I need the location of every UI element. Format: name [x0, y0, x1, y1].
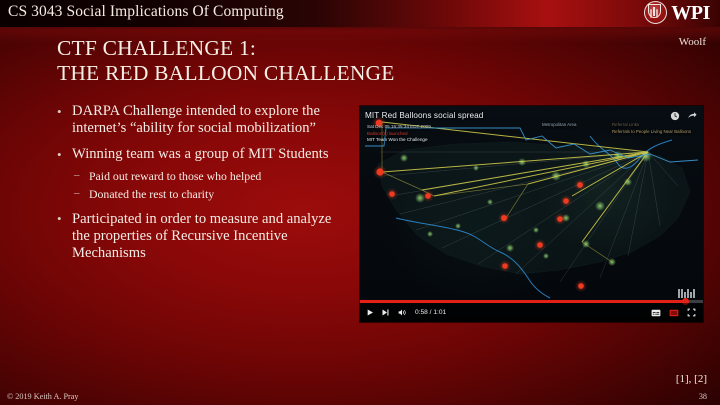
bullet-text: Donated the rest to charity [89, 187, 214, 201]
overlay-launch-label: Balloon(s) launched [367, 131, 408, 136]
title-line-1: CTF CHALLENGE 1: [57, 36, 577, 61]
bullet-text: Paid out reward to those who helped [89, 169, 261, 183]
presentation-slide: CS 3043 Social Implications Of Computing… [0, 0, 720, 405]
bullet-text: DARPA Challenge intended to explore the … [72, 103, 320, 136]
theater-mode-icon[interactable] [669, 309, 679, 317]
fullscreen-icon[interactable] [687, 308, 696, 317]
bullet-item: • DARPA Challenge intended to explore th… [55, 103, 350, 137]
bullet-marker: – [74, 185, 80, 201]
share-icon[interactable] [687, 111, 697, 121]
watch-later-icon[interactable] [670, 111, 680, 121]
sub-bullet-item: – Paid out reward to those who helped [55, 168, 350, 184]
header-bar: CS 3043 Social Implications Of Computing [0, 0, 720, 27]
course-title: CS 3043 Social Implications Of Computing [8, 3, 284, 21]
overlay-won-label: MIT Team Won the Challenge [367, 137, 428, 142]
volume-icon[interactable] [397, 308, 407, 317]
video-top-icons[interactable] [670, 111, 697, 121]
wpi-seal-icon [644, 1, 667, 24]
video-controls-left[interactable]: 0:58 / 1:01 [366, 308, 446, 317]
title-line-2: THE RED BALLOON CHALLENGE [57, 61, 577, 86]
bullet-marker: • [57, 210, 62, 227]
bullet-item: • Participated in order to measure and a… [55, 211, 350, 263]
page-number: 38 [699, 392, 707, 401]
bullet-marker: • [57, 103, 62, 120]
legend-referrals-near-balloons: Referrals to People Living Near Balloons [612, 129, 691, 134]
video-time-display: 0:58 / 1:01 [415, 309, 446, 316]
legend-referral-links: Referral Links [612, 122, 639, 127]
video-player[interactable]: MIT Red Balloons social spread Sat Dec 0… [360, 106, 703, 322]
bullet-text: Winning team was a group of MIT Students [72, 146, 329, 162]
bullet-list: • DARPA Challenge intended to explore th… [55, 103, 350, 271]
wpi-logo-text: WPI [671, 3, 710, 23]
legend-metropolitan-area: Metropolitan Area [542, 122, 576, 127]
sub-bullet-item: – Donated the rest to charity [55, 186, 350, 202]
subtitles-icon[interactable] [651, 309, 661, 317]
video-title: MIT Red Balloons social spread [365, 111, 483, 120]
sub-bullet-group: – Paid out reward to those who helped – … [55, 168, 350, 202]
author-name: Woolf [679, 36, 706, 48]
page-title: CTF CHALLENGE 1: THE RED BALLOON CHALLEN… [57, 36, 577, 86]
next-video-icon[interactable] [381, 308, 390, 317]
play-icon[interactable] [366, 308, 374, 317]
references-citation: [1], [2] [676, 373, 707, 385]
overlay-timestamp: Sat Dec 05 16:35:34 EDT 2009 [367, 124, 431, 129]
bullet-marker: • [57, 146, 62, 163]
video-controls-right[interactable] [651, 308, 696, 317]
bullet-marker: – [74, 167, 80, 183]
video-controls-bar[interactable]: 0:58 / 1:01 [360, 303, 703, 322]
video-canvas[interactable]: MIT Red Balloons social spread Sat Dec 0… [360, 106, 703, 322]
bullet-text: Participated in order to measure and ana… [72, 211, 331, 261]
wpi-logo: WPI [644, 1, 710, 24]
copyright-notice: © 2019 Keith A. Pray [7, 392, 79, 401]
landmass-shape [378, 142, 690, 274]
bullet-item: • Winning team was a group of MIT Studen… [55, 146, 350, 163]
mit-logo-watermark [678, 289, 695, 298]
